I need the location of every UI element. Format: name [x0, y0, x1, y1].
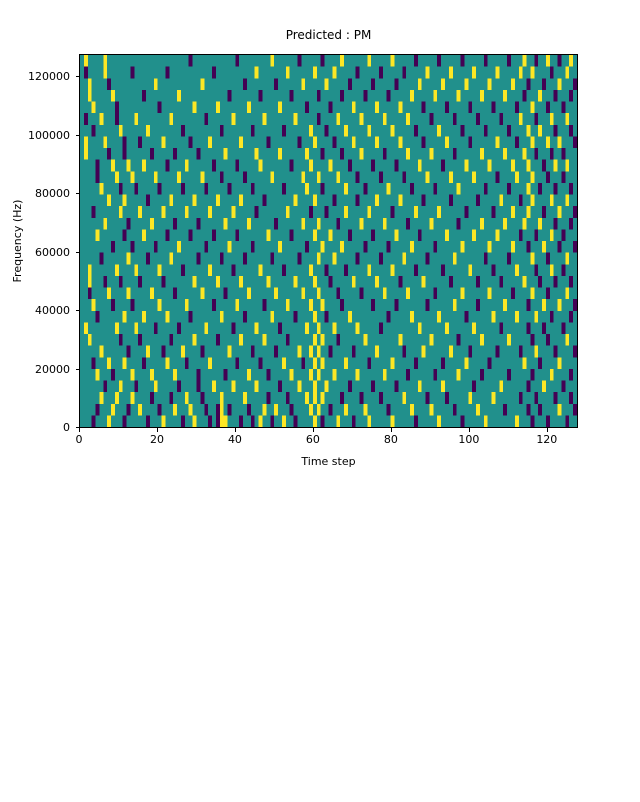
y-axis-tick-label: 60000	[35, 246, 70, 260]
y-axis-tick-label: 120000	[28, 70, 70, 84]
x-axis-tick-label: 20	[127, 433, 187, 447]
x-axis-tick: 120	[517, 428, 577, 448]
x-axis-tick-label: 40	[205, 433, 265, 447]
x-axis-tick: 80	[361, 428, 421, 448]
y-axis-label: Frequency (Hz)	[10, 54, 26, 428]
y-axis-tick-mark	[76, 369, 80, 370]
page-title: Predicted : PM	[79, 28, 578, 42]
x-axis-tick: 60	[283, 428, 343, 448]
x-axis-tick-mark	[469, 428, 470, 432]
x-axis-tick-mark	[313, 428, 314, 432]
y-axis-tick-mark	[76, 135, 80, 136]
x-axis-label: Time step	[79, 455, 578, 469]
y-axis-tick-mark	[76, 76, 80, 77]
x-axis-tick-label: 120	[517, 433, 577, 447]
y-axis-tick-label: 100000	[28, 129, 70, 143]
heatmap-image	[80, 55, 577, 427]
x-axis-tick-mark	[157, 428, 158, 432]
y-axis-tick-mark	[76, 252, 80, 253]
heatmap-plot-area	[79, 54, 578, 428]
y-axis-tick-label: 20000	[35, 363, 70, 377]
y-axis-tick-mark	[76, 193, 80, 194]
x-axis-tick: 20	[127, 428, 187, 448]
y-axis-label-container: Frequency (Hz)	[10, 428, 26, 802]
x-axis-tick-label: 80	[361, 433, 421, 447]
x-axis-tick-mark	[235, 428, 236, 432]
x-axis-tick-label: 0	[49, 433, 109, 447]
x-axis-tick-label: 100	[439, 433, 499, 447]
x-axis-tick-label: 60	[283, 433, 343, 447]
x-axis-tick-mark	[391, 428, 392, 432]
x-axis-tick: 40	[205, 428, 265, 448]
x-axis-tick: 100	[439, 428, 499, 448]
y-axis-tick-mark	[76, 310, 80, 311]
x-axis-tick: 0	[49, 428, 109, 448]
x-axis-tick-mark	[547, 428, 548, 432]
y-axis-tick-label: 80000	[35, 187, 70, 201]
y-axis-tick-label: 40000	[35, 304, 70, 318]
matplotlib-figure: Predicted : PM 0200004000060000800001000…	[0, 0, 640, 480]
x-axis-tick-mark	[79, 428, 80, 432]
